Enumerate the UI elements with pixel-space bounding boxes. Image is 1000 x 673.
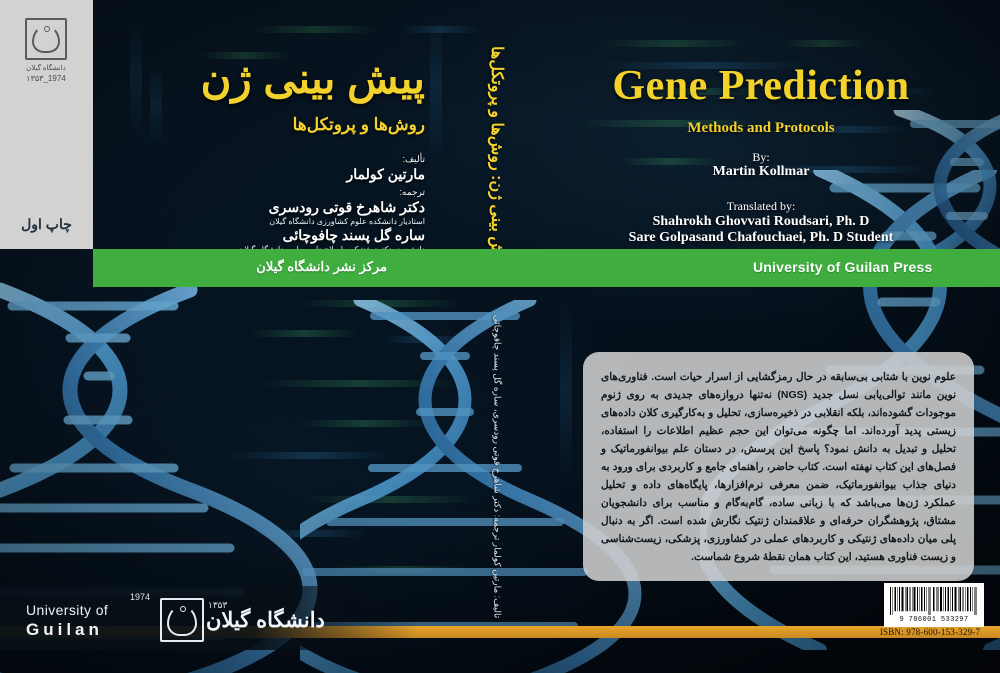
barcode: 9 786001 533297 xyxy=(884,583,984,627)
university-name-en: University of Guilan xyxy=(26,602,108,640)
front-translator1-name: Shahrokh Ghovvati Roudsari, Ph. D xyxy=(522,214,1000,230)
university-lockup: University of Guilan 1974 ۱۳۵۳ دانشگاه گ… xyxy=(0,586,420,650)
publisher-name-fa: مرکز نشر دانشگاه گیلان xyxy=(256,259,387,275)
back-subtitle-fa: روش‌ها و پروتکل‌ها xyxy=(93,115,425,135)
front-translator2-name: Sare Golpasand Chafouchaei, Ph. D Studen… xyxy=(522,230,1000,246)
back-author-label: تألیف: xyxy=(93,154,425,165)
spine-text-band: پیش بینی ژن: روش‌ها و پروتکل‌ها تالیف: م… xyxy=(470,0,522,673)
spine-credit-vertical: تالیف: مارتین کولمار ترجمه: دکتر شاهرخ ق… xyxy=(492,291,503,643)
university-name-en-line1: University of xyxy=(26,602,108,618)
publisher-banner: مرکز نشر دانشگاه گیلان University of Gui… xyxy=(93,249,1000,287)
spine-university-logo: دانشگاه گیلان ۱۳۵۳_1974 xyxy=(16,18,76,83)
front-translated-by-label: Translated by: xyxy=(522,199,1000,214)
book-cover: دانشگاه گیلان ۱۳۵۳_1974 چاپ اول پیش بینی… xyxy=(0,0,1000,673)
back-author-name: مارتین کولمار xyxy=(93,166,425,183)
front-title-en: Gene Prediction xyxy=(522,62,1000,110)
guilan-emblem-icon xyxy=(25,18,67,60)
back-title-fa: پیش بینی ژن xyxy=(93,58,425,100)
back-credits-fa: تألیف: مارتین کولمار ترجمه: دکتر شاهرخ ق… xyxy=(93,150,425,254)
spine-logo-label: دانشگاه گیلان xyxy=(16,64,76,72)
back-translator-label: ترجمه: xyxy=(93,187,425,198)
publisher-name-en: University of Guilan Press xyxy=(753,259,932,275)
front-cover-panel: Gene Prediction Methods and Protocols By… xyxy=(522,0,1000,249)
guilan-emblem-icon-bottom xyxy=(160,598,204,642)
barcode-digits: 9 786001 533297 xyxy=(889,616,979,624)
back-translator2-name: ساره گل پسند چافوچائی xyxy=(93,227,425,244)
spine-panel: دانشگاه گیلان ۱۳۵۳_1974 چاپ اول xyxy=(0,0,93,249)
barcode-bars-icon xyxy=(889,587,979,615)
back-cover-blurb-panel: علوم نوین با شتابی بی‌سابقه در حال رمزگش… xyxy=(583,352,974,581)
front-author-name: Martin Kollmar xyxy=(522,164,1000,180)
back-translator1-affiliation: استادیار دانشکده علوم کشاورزی دانشگاه گی… xyxy=(93,217,425,226)
university-name-fa: دانشگاه گیلان xyxy=(206,608,396,633)
back-translator1-name: دکتر شاهرخ قوتی رودسری xyxy=(93,199,425,216)
front-by-label: By: xyxy=(522,150,1000,165)
university-name-en-line2: Guilan xyxy=(26,620,108,640)
isbn-text: ISBN: 978-600-153-329-7 xyxy=(866,627,994,637)
spine-logo-years: ۱۳۵۳_1974 xyxy=(16,74,76,83)
university-year-en: 1974 xyxy=(130,592,150,602)
blurb-text: علوم نوین با شتابی بی‌سابقه در حال رمزگش… xyxy=(601,368,956,567)
spine-edition-label: چاپ اول xyxy=(0,216,93,233)
front-subtitle-en: Methods and Protocols xyxy=(522,120,1000,137)
back-cover-panel: پیش بینی ژن روش‌ها و پروتکل‌ها تألیف: ما… xyxy=(93,0,470,249)
